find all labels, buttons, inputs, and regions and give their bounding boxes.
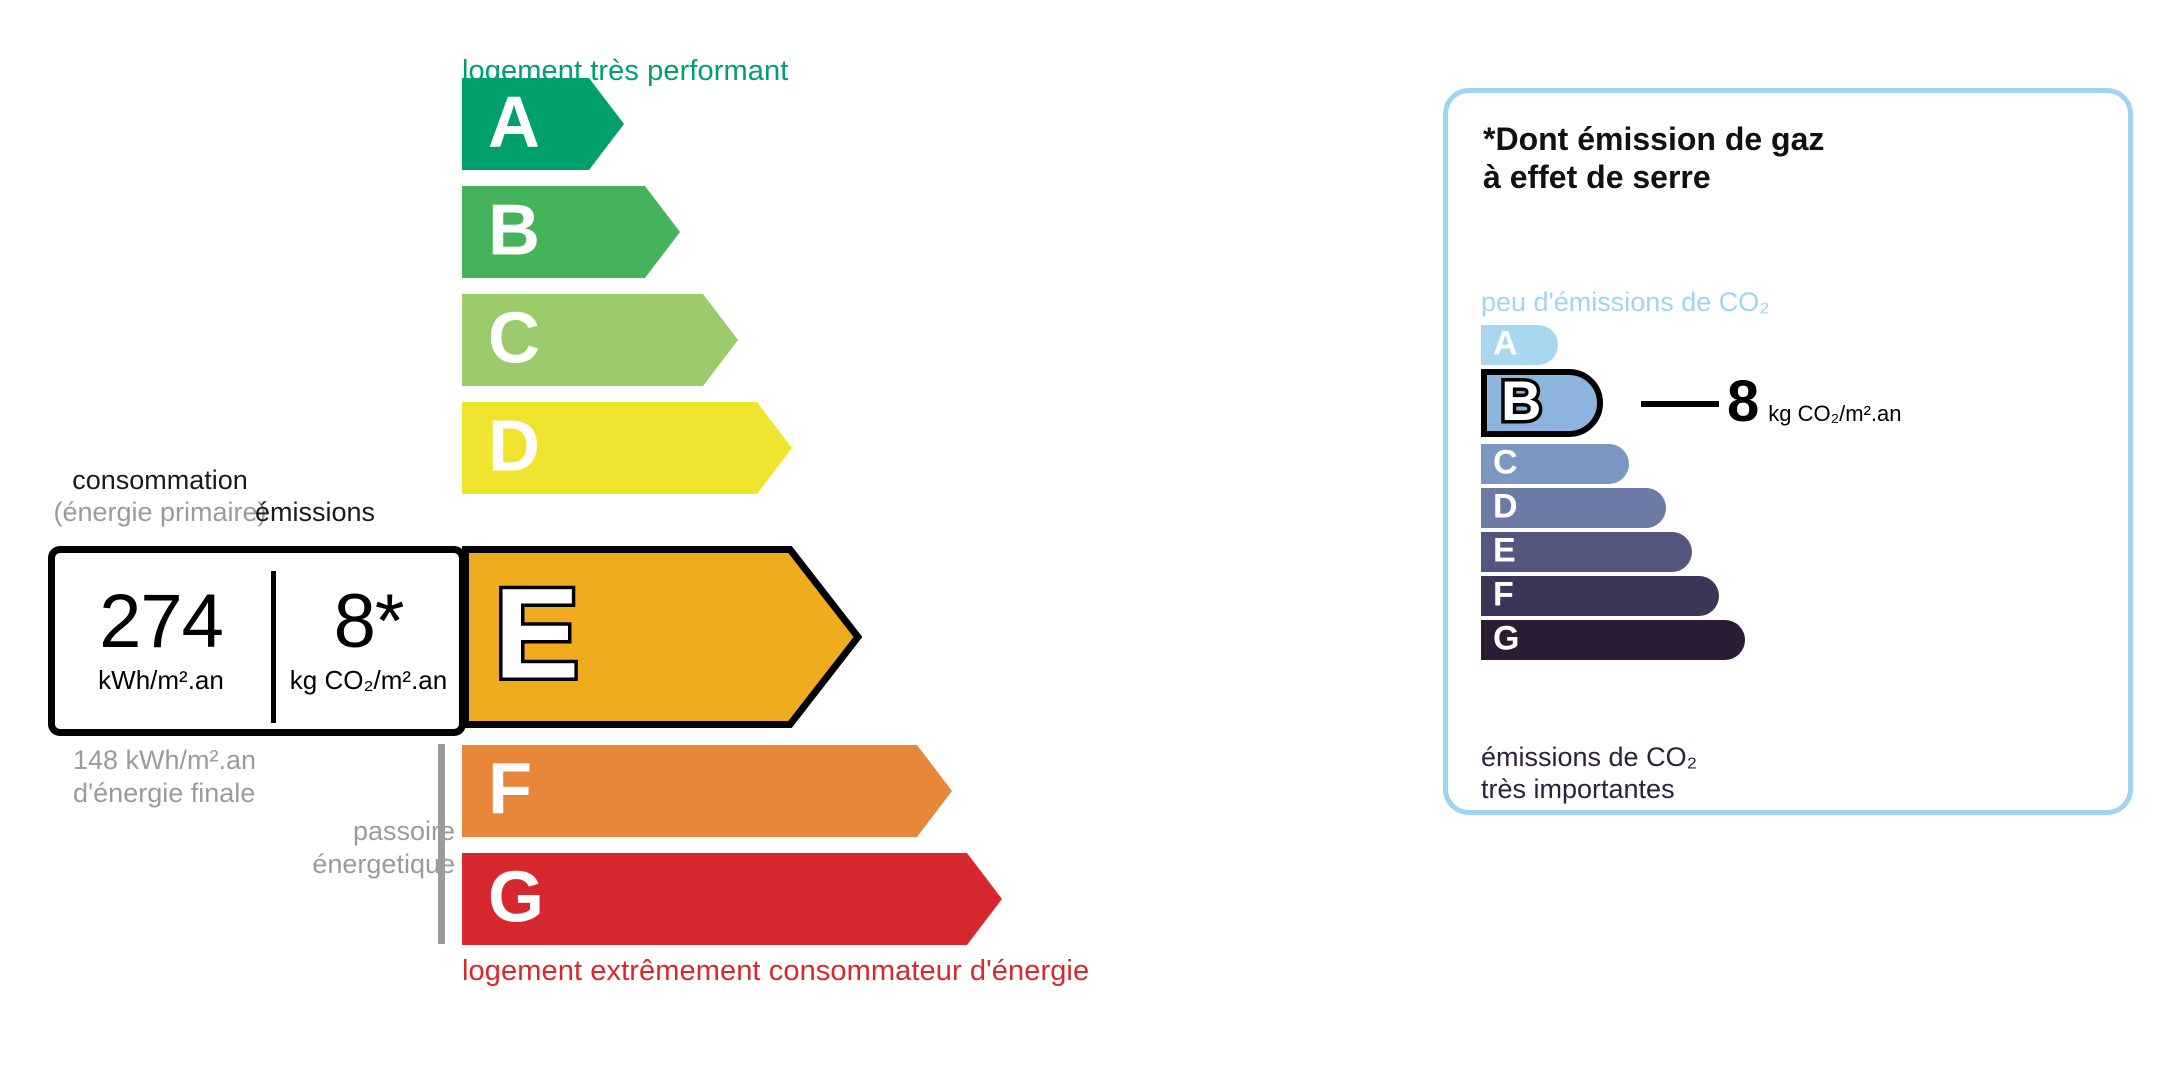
energy-bar-f[interactable]: F [462, 745, 952, 837]
energy-bar-e-letter: E [494, 570, 579, 698]
emissions-value: 8* [334, 586, 404, 658]
co2-bar-a-letter: A [1493, 327, 1518, 361]
energy-bar-f-letter: F [488, 754, 532, 826]
co2-value-callout: 8 kg CO₂/m².an [1727, 373, 1902, 431]
emissions-label: émissions [220, 497, 410, 528]
consumption-value-cell: 274 kWh/m².an [55, 553, 267, 729]
emissions-unit: kg CO₂/m².an [290, 665, 447, 696]
energy-bar-b[interactable]: B [462, 186, 680, 278]
co2-bar-g[interactable]: G [1481, 620, 1745, 660]
co2-bar-b-selected[interactable]: B [1481, 369, 1603, 437]
co2-title-line2: à effet de serre [1483, 159, 1824, 197]
energy-scale-bottom-caption: logement extrêmement consommateur d'éner… [462, 955, 1089, 988]
final-energy-note: 148 kWh/m².an d'énergie finale [73, 744, 256, 810]
arrow-shape-f [462, 745, 952, 837]
co2-bottom-line2: très importantes [1481, 773, 1697, 805]
final-energy-line2: d'énergie finale [73, 777, 256, 810]
energy-bar-c-letter: C [488, 303, 540, 375]
energy-bar-a[interactable]: A [462, 78, 624, 170]
co2-top-caption: peu d'émissions de CO₂ [1481, 287, 1770, 318]
consumption-value-box: 274 kWh/m².an 8* kg CO₂/m².an [48, 546, 466, 736]
co2-bar-c-letter: C [1493, 446, 1518, 480]
emissions-value-cell: 8* kg CO₂/m².an [277, 553, 460, 729]
co2-bar-e-letter: E [1493, 534, 1516, 568]
co2-leader-line [1641, 401, 1719, 407]
energy-bar-e-selected[interactable]: E [462, 546, 862, 728]
co2-bottom-caption: émissions de CO₂ très importantes [1481, 741, 1697, 806]
co2-bar-a[interactable]: A [1481, 325, 1558, 365]
arrow-shape-a [462, 78, 624, 170]
co2-emissions-panel: *Dont émission de gaz à effet de serre p… [1443, 88, 2133, 815]
co2-bar-b-letter: B [1501, 373, 1541, 429]
energy-bar-d[interactable]: D [462, 402, 792, 494]
consumption-unit: kWh/m².an [98, 665, 224, 696]
co2-value-unit: kg CO₂/m².an [1768, 401, 1901, 427]
co2-bar-f-letter: F [1493, 578, 1514, 612]
final-energy-line1: 148 kWh/m².an [73, 744, 256, 777]
energy-bar-g-letter: G [488, 862, 544, 934]
passoire-line2: énergetique [295, 848, 455, 881]
energy-bar-a-letter: A [488, 87, 540, 159]
co2-panel-title: *Dont émission de gaz à effet de serre [1483, 121, 1824, 197]
energy-bar-c[interactable]: C [462, 294, 738, 386]
consumption-value: 274 [99, 586, 223, 658]
energy-bar-b-letter: B [488, 195, 540, 267]
co2-bar-d[interactable]: D [1481, 488, 1666, 528]
co2-bar-f[interactable]: F [1481, 576, 1719, 616]
passoire-line1: passoire [295, 815, 455, 848]
energy-bar-g[interactable]: G [462, 853, 1002, 945]
co2-bar-d-letter: D [1493, 490, 1518, 524]
co2-value: 8 [1727, 373, 1759, 431]
co2-title-line1: *Dont émission de gaz [1483, 121, 1824, 159]
co2-bar-c[interactable]: C [1481, 444, 1629, 484]
co2-bar-e[interactable]: E [1481, 532, 1692, 572]
energy-performance-label: logement très performant A B C [0, 0, 1330, 1079]
energy-bar-d-letter: D [488, 411, 540, 483]
co2-bottom-line1: émissions de CO₂ [1481, 741, 1697, 773]
co2-bar-g-letter: G [1493, 622, 1519, 656]
consumption-label-main: consommation [50, 465, 270, 497]
passoire-label: passoire énergetique [295, 815, 455, 881]
value-box-divider [271, 571, 276, 723]
